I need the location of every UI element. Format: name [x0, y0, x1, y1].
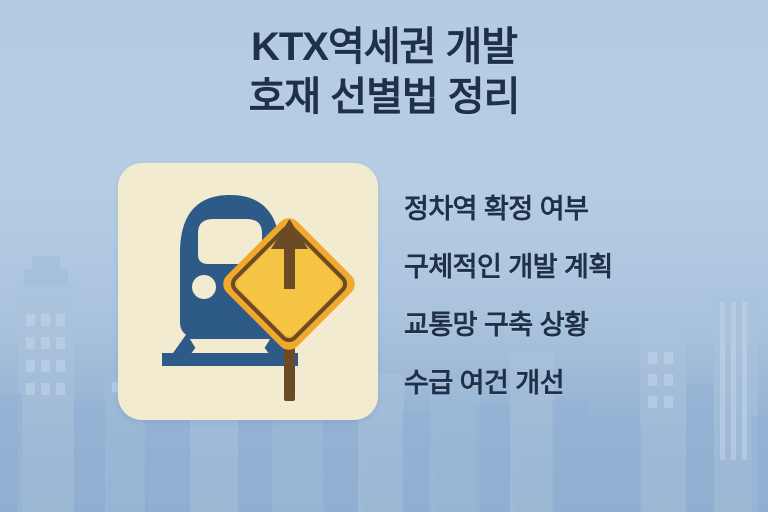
building — [146, 408, 190, 512]
window — [41, 337, 50, 349]
illustration-card — [118, 163, 378, 420]
building-tower-left-step2 — [32, 256, 60, 270]
list-item: 수급 여건 개선 — [404, 354, 734, 412]
list-item: 정차역 확정 여부 — [404, 180, 734, 238]
page-title: KTX역세권 개발 호재 선별법 정리 — [0, 22, 768, 122]
window — [26, 314, 35, 326]
window — [26, 383, 35, 395]
key-points-list: 정차역 확정 여부 구체적인 개발 계획 교통망 구축 상황 수급 여건 개선 — [404, 180, 734, 412]
building — [0, 394, 22, 512]
window-stripe — [742, 302, 747, 460]
window — [56, 314, 65, 326]
window — [26, 337, 35, 349]
window — [56, 337, 65, 349]
window — [41, 360, 50, 372]
building-tower-left-step1 — [24, 270, 68, 286]
building — [74, 400, 108, 512]
poster-canvas: KTX역세권 개발 호재 선별법 정리 — [0, 0, 768, 512]
building — [552, 400, 588, 512]
train-illustration — [118, 163, 378, 420]
page-title-line-1: KTX역세권 개발 — [0, 22, 768, 72]
window — [56, 360, 65, 372]
page-title-line-2: 호재 선별법 정리 — [0, 72, 768, 122]
building — [322, 404, 362, 512]
window — [26, 360, 35, 372]
list-item: 교통망 구축 상황 — [404, 296, 734, 354]
window — [41, 314, 50, 326]
building — [588, 424, 642, 512]
building — [752, 416, 768, 512]
window — [56, 383, 65, 395]
window — [41, 383, 50, 395]
list-item: 구체적인 개발 계획 — [404, 238, 734, 296]
building — [476, 406, 514, 512]
